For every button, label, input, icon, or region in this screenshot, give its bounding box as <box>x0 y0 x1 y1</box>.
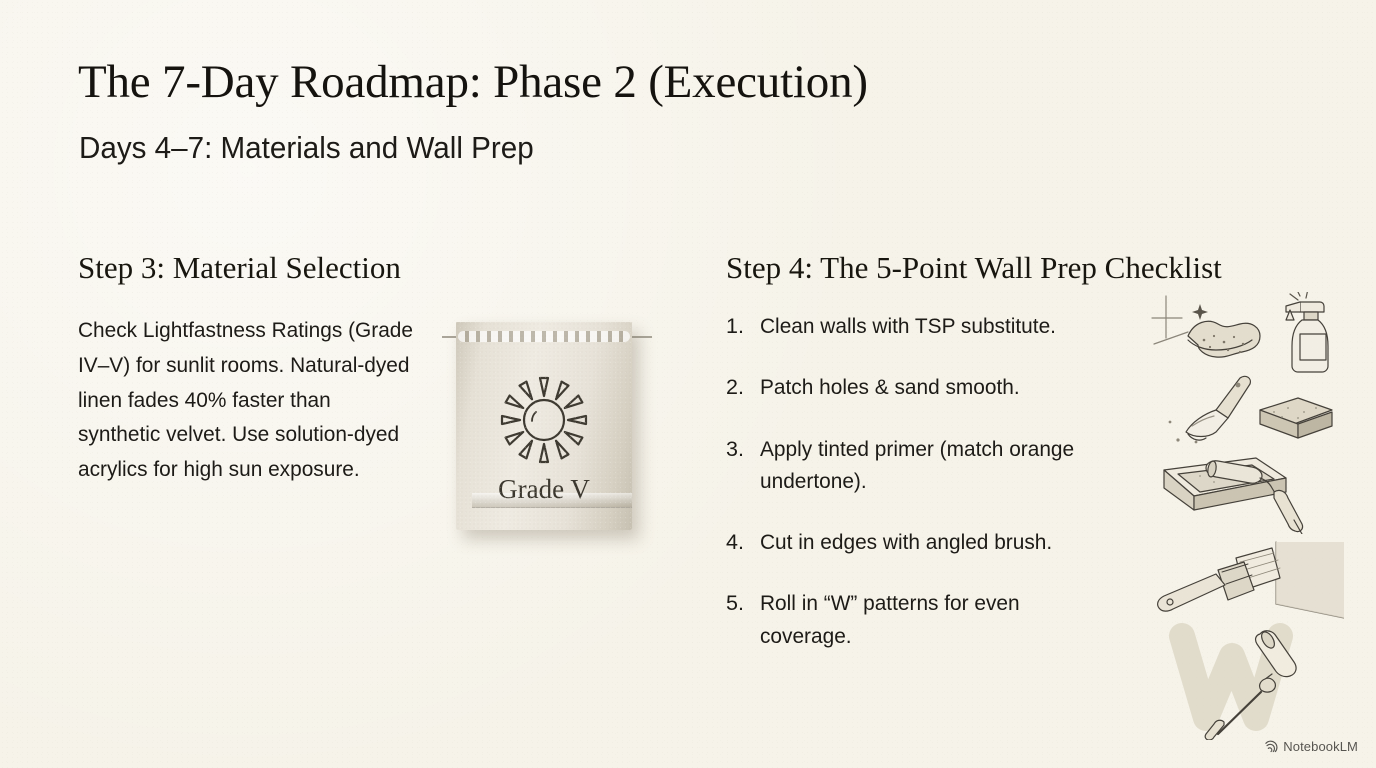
wall-prep-checklist: 1. Clean walls with TSP substitute. 2. P… <box>726 310 1146 681</box>
list-item: 1. Clean walls with TSP substitute. <box>726 310 1146 342</box>
list-item-number: 4. <box>726 526 760 558</box>
sponge-and-spray-bottle-icon <box>1148 292 1344 374</box>
list-item-number: 3. <box>726 433 760 465</box>
checklist-illustrations <box>1148 292 1344 740</box>
page-title: The 7-Day Roadmap: Phase 2 (Execution) <box>78 58 868 108</box>
tag-grade-label: Grade V <box>456 474 632 505</box>
tag-stitching <box>458 331 630 342</box>
paint-tray-and-roller-icon <box>1148 448 1344 534</box>
section-heading-step-4: Step 4: The 5-Point Wall Prep Checklist <box>726 250 1222 286</box>
watermark-label: NotebookLM <box>1283 739 1358 754</box>
list-item-number: 2. <box>726 371 760 403</box>
list-item-number: 5. <box>726 587 760 619</box>
roller-on-pole-w-pattern-icon <box>1148 622 1344 740</box>
sun-icon <box>496 372 592 468</box>
list-item-number: 1. <box>726 310 760 342</box>
list-item-text: Patch holes & sand smooth. <box>760 371 1020 403</box>
slide-canvas: The 7-Day Roadmap: Phase 2 (Execution) D… <box>0 0 1376 768</box>
step-3-body-text: Check Lightfastness Ratings (Grade IV–V)… <box>78 313 418 487</box>
page-subtitle: Days 4–7: Materials and Wall Prep <box>79 131 534 166</box>
angled-paint-brush-icon <box>1148 540 1344 626</box>
list-item-text: Apply tinted primer (match orange undert… <box>760 433 1080 498</box>
list-item: 3. Apply tinted primer (match orange und… <box>726 433 1146 498</box>
fabric-tag-illustration: Grade V <box>440 312 654 552</box>
section-heading-step-3: Step 3: Material Selection <box>78 250 401 286</box>
list-item: 5. Roll in “W” patterns for even coverag… <box>726 587 1146 652</box>
list-item: 4. Cut in edges with angled brush. <box>726 526 1146 558</box>
putty-knife-and-sanding-block-icon <box>1148 374 1344 448</box>
tag-bottom-curl <box>472 493 632 508</box>
list-item: 2. Patch holes & sand smooth. <box>726 371 1146 403</box>
notebooklm-watermark: NotebookLM <box>1263 739 1358 754</box>
list-item-text: Roll in “W” patterns for even coverage. <box>760 587 1080 652</box>
notebooklm-logo-icon <box>1263 739 1278 754</box>
list-item-text: Clean walls with TSP substitute. <box>760 310 1056 342</box>
tag-fabric-body: Grade V <box>456 322 632 530</box>
list-item-text: Cut in edges with angled brush. <box>760 526 1052 558</box>
